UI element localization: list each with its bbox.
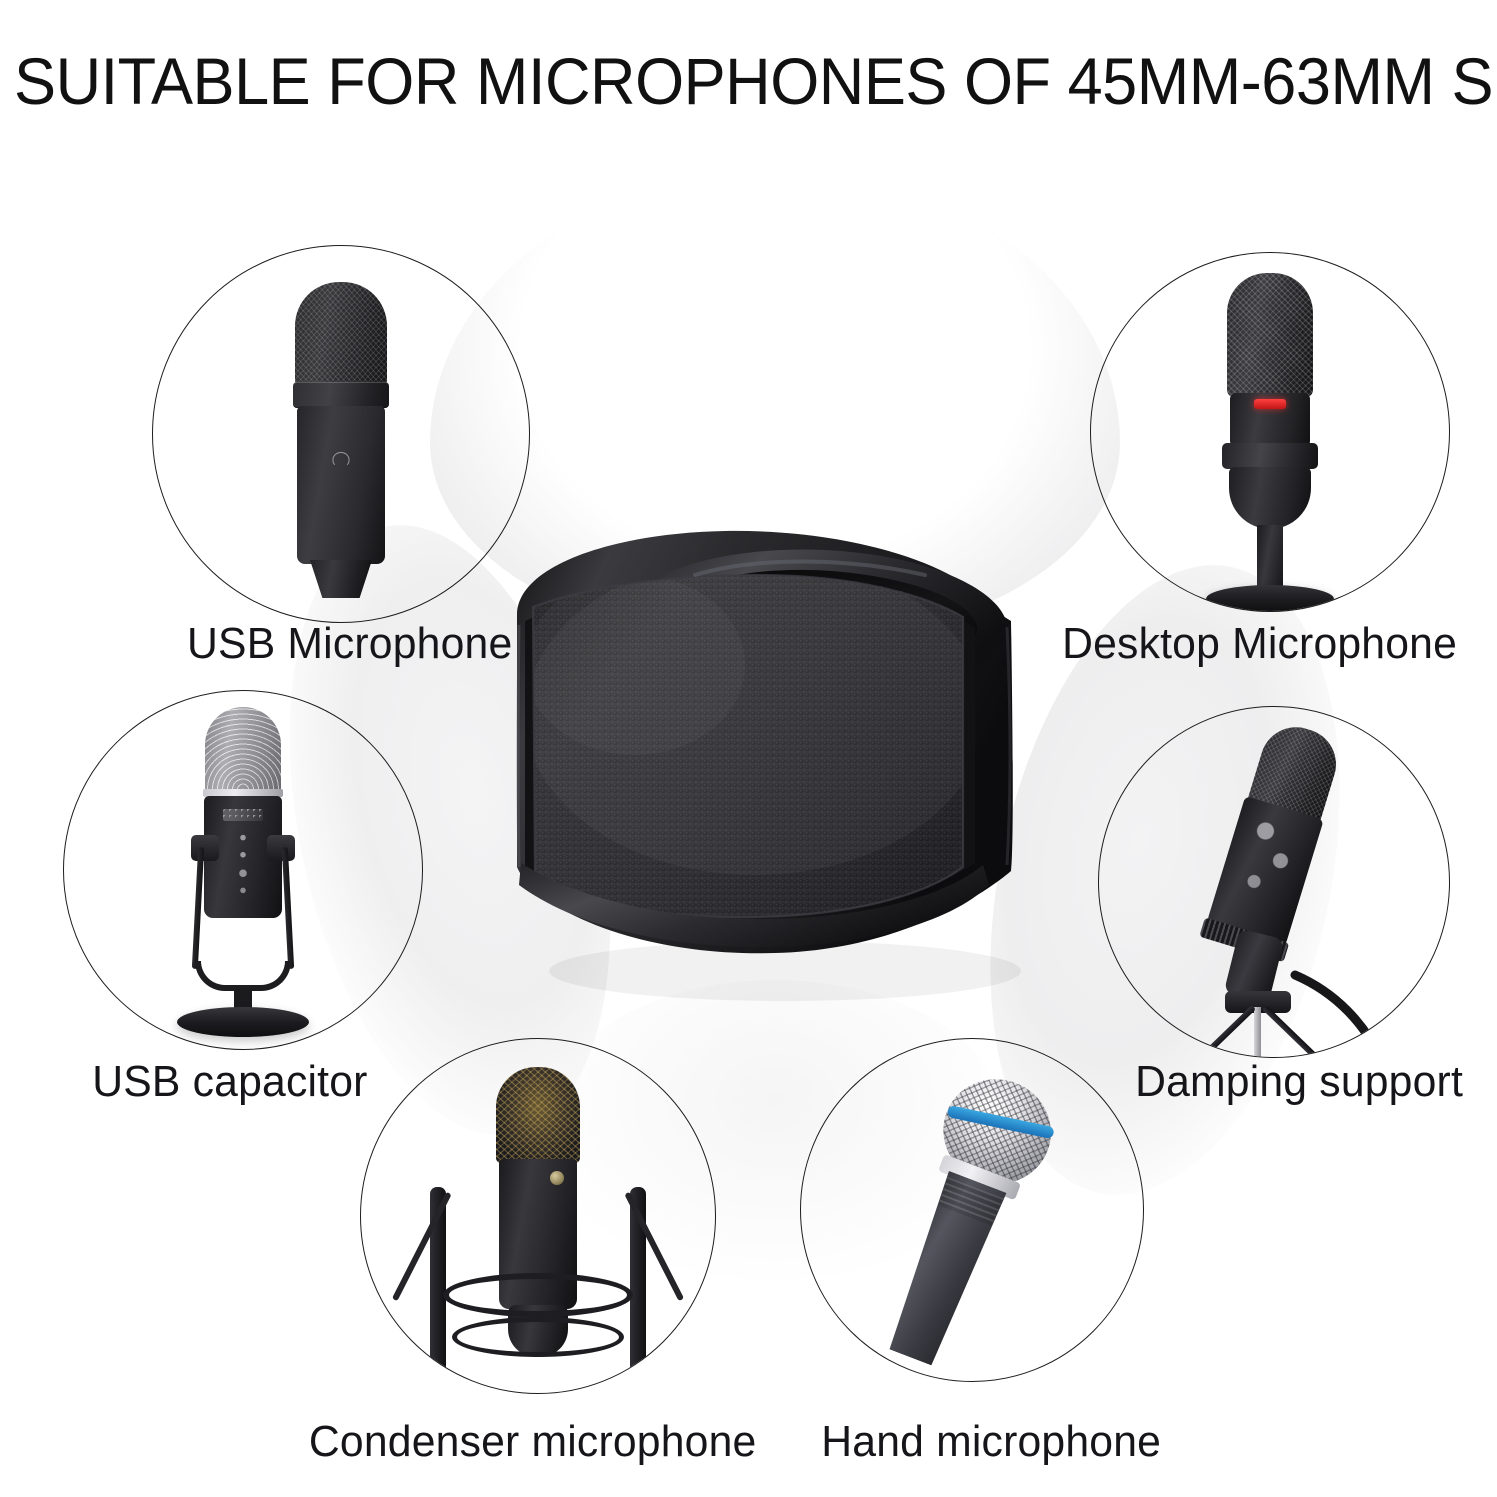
feature-image-hand-microphone — [801, 1039, 1143, 1381]
feature-label-condenser-microphone: Condenser microphone — [309, 1418, 757, 1466]
mic-stem — [1257, 525, 1283, 591]
mic-yoke-right — [282, 847, 294, 969]
usb-microphone-icon — [281, 282, 401, 602]
feature-image-usb-microphone — [153, 246, 529, 622]
mic-base — [1206, 585, 1334, 611]
feature-circle-damping-support — [1098, 706, 1450, 1058]
mic-grille — [496, 1067, 580, 1163]
condenser-microphone-icon — [413, 1067, 663, 1393]
pop-filter-product-image — [455, 415, 1075, 1055]
mic-grille — [295, 282, 387, 386]
feature-label-damping-support: Damping support — [1135, 1058, 1463, 1106]
pop-filter-mesh-panel — [515, 555, 995, 935]
shockmount-ring-upper — [443, 1273, 633, 1317]
brand-logo — [223, 809, 263, 821]
page-title: SUITABLE FOR MICROPHONES OF 45MM-63MM SI… — [14, 46, 1418, 116]
feature-circle-condenser-microphone — [360, 1038, 716, 1394]
mic-lower-body — [1229, 467, 1311, 529]
mic-knob-right — [267, 835, 295, 861]
mic-screw — [550, 1171, 564, 1185]
hand-microphone-icon — [852, 1061, 1072, 1381]
mic-led-indicator — [1254, 399, 1286, 409]
mic-yoke-left — [192, 847, 204, 969]
mic-base — [177, 1007, 309, 1037]
feature-label-hand-microphone: Hand microphone — [821, 1418, 1161, 1466]
feature-image-usb-capacitor — [64, 691, 422, 1049]
pop-filter-illustration — [455, 415, 1075, 1055]
mic-yoke-bottom — [195, 961, 291, 991]
feature-label-usb-microphone: USB Microphone — [187, 620, 512, 668]
usb-capacitor-icon — [168, 707, 318, 1043]
infographic-page: SUITABLE FOR MICROPHONES OF 45MM-63MM SI… — [0, 0, 1497, 1497]
feature-label-desktop-microphone: Desktop Microphone — [1062, 620, 1457, 668]
mic-base — [310, 560, 372, 598]
feature-circle-desktop-microphone — [1090, 252, 1450, 612]
feature-image-damping-support — [1099, 707, 1449, 1057]
mic-control-icons — [230, 831, 256, 897]
feature-label-usb-capacitor: USB capacitor — [92, 1058, 367, 1106]
mic-collar — [293, 382, 389, 408]
shockmount-ring-lower — [452, 1317, 624, 1357]
desktop-microphone-icon — [1200, 273, 1340, 611]
mic-knob-left — [191, 835, 219, 861]
damping-support-icon — [1099, 707, 1449, 1057]
mic-body — [297, 406, 385, 564]
mic-cable — [1099, 707, 1449, 1057]
mic-ring-band — [1222, 443, 1318, 469]
mic-badge — [333, 452, 350, 467]
feature-image-desktop-microphone — [1091, 253, 1449, 611]
pop-filter-left-edge-highlight — [518, 625, 519, 867]
mic-grille — [205, 707, 281, 793]
mic-grille — [1227, 273, 1313, 397]
feature-image-condenser-microphone — [361, 1039, 715, 1393]
feature-circle-hand-microphone — [800, 1038, 1144, 1382]
feature-circle-usb-microphone — [152, 245, 530, 623]
feature-circle-usb-capacitor — [63, 690, 423, 1050]
